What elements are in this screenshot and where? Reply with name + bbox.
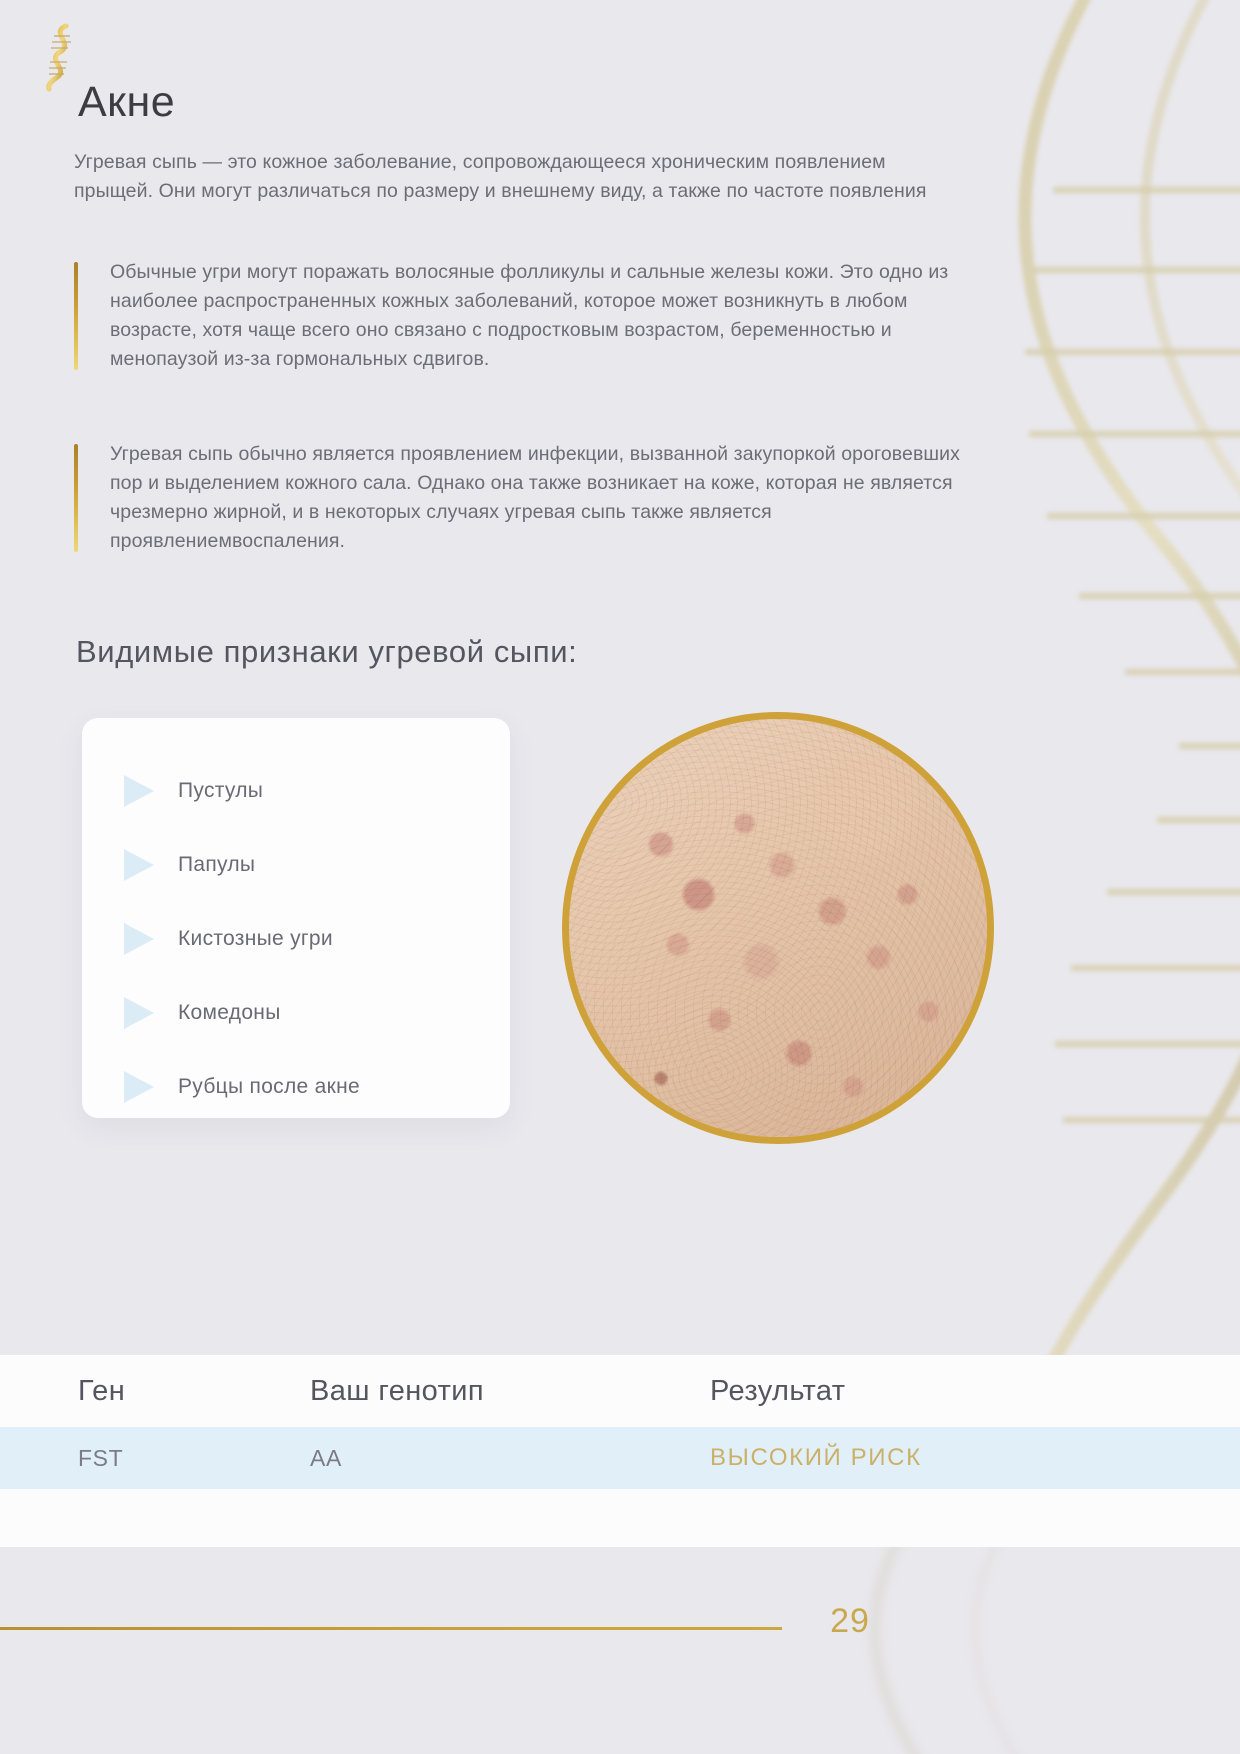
- footer-divider: [0, 1627, 782, 1630]
- column-header-gene: Ген: [0, 1355, 310, 1427]
- list-item: Комедоны: [108, 976, 484, 1050]
- table-header: Ген Ваш генотип Результат: [0, 1355, 1240, 1427]
- triangle-bullet-icon: [124, 775, 154, 807]
- triangle-bullet-icon: [124, 1071, 154, 1103]
- intro-paragraph: Угревая сыпь — это кожное заболевание, с…: [74, 148, 964, 206]
- cell-genotype: AA: [310, 1427, 710, 1489]
- list-item-label: Рубцы после акне: [178, 1075, 360, 1099]
- table-body: FST AA ВЫСОКИЙ РИСК: [0, 1427, 1240, 1489]
- column-header-result: Результат: [710, 1355, 1240, 1427]
- cell-gene: FST: [0, 1427, 310, 1489]
- triangle-bullet-icon: [124, 923, 154, 955]
- signs-list-card: Пустулы Папулы Кистозные угри Комедоны Р…: [82, 718, 510, 1118]
- signs-section-heading: Видимые признаки угревой сыпи:: [76, 634, 577, 670]
- acne-skin-photo: [562, 712, 994, 1144]
- table-header-row: Ген Ваш генотип Результат: [0, 1355, 1240, 1427]
- list-item: Рубцы после акне: [108, 1050, 484, 1124]
- results-table: Ген Ваш генотип Результат FST AA ВЫСОКИЙ…: [0, 1355, 1240, 1489]
- list-item-label: Комедоны: [178, 1001, 281, 1025]
- quote-block-1: Обычные угри могут поражать волосяные фо…: [74, 258, 964, 374]
- triangle-bullet-icon: [124, 849, 154, 881]
- quote-text-1: Обычные угри могут поражать волосяные фо…: [110, 261, 948, 370]
- table-row: FST AA ВЫСОКИЙ РИСК: [0, 1427, 1240, 1489]
- quote-block-2: Угревая сыпь обычно является проявлением…: [74, 440, 964, 556]
- triangle-bullet-icon: [124, 997, 154, 1029]
- page-title: Акне: [78, 78, 175, 127]
- list-item-label: Папулы: [178, 853, 255, 877]
- column-header-genotype: Ваш генотип: [310, 1355, 710, 1427]
- quote-text-2: Угревая сыпь обычно является проявлением…: [110, 443, 960, 552]
- report-page: Акне Угревая сыпь — это кожное заболеван…: [0, 0, 1240, 1754]
- results-table-section: Ген Ваш генотип Результат FST AA ВЫСОКИЙ…: [0, 1355, 1240, 1547]
- list-item: Пустулы: [108, 754, 484, 828]
- list-item-label: Пустулы: [178, 779, 263, 803]
- page-number: 29: [800, 1602, 900, 1641]
- skin-grain-overlay: [569, 719, 987, 1137]
- list-item-label: Кистозные угри: [178, 927, 333, 951]
- list-item: Папулы: [108, 828, 484, 902]
- table-bottom-spacer: [0, 1489, 1240, 1547]
- list-item: Кистозные угри: [108, 902, 484, 976]
- cell-result-badge: ВЫСОКИЙ РИСК: [710, 1427, 1240, 1489]
